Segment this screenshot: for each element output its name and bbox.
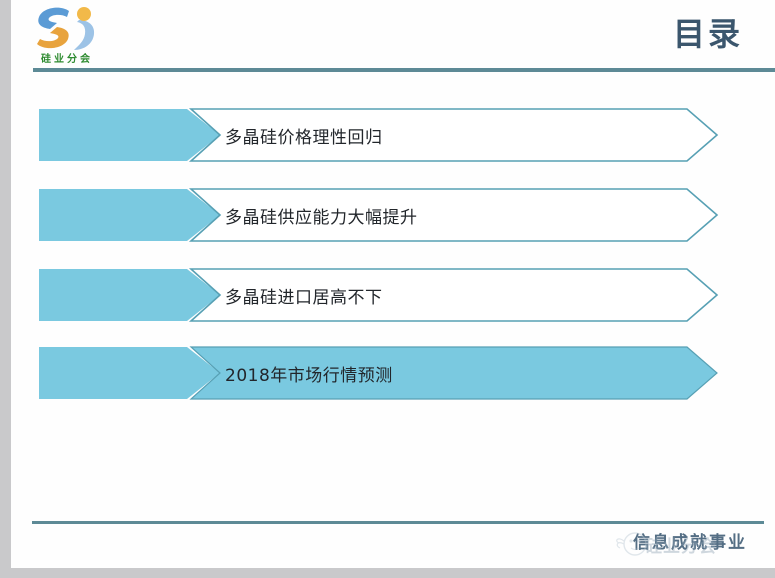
list-item[interactable]: 多晶硅供应能力大幅提升 xyxy=(39,188,719,242)
chevron-shape xyxy=(39,188,719,242)
contents-list: 多晶硅价格理性回归 多晶硅供应能力大幅提升 多晶硅进口居高不下 2018年市 xyxy=(11,0,775,568)
presentation-slide: 硅业分会 目录 多晶硅价格理性回归 多晶硅供应能力大幅提升 xyxy=(0,0,775,578)
chevron-shape xyxy=(39,268,719,322)
list-item-active[interactable]: 2018年市场行情预测 xyxy=(39,346,719,400)
footer-slogan-text: 信息成就事业 xyxy=(633,533,747,553)
list-item[interactable]: 多晶硅进口居高不下 xyxy=(39,268,719,322)
slide-frame-bottom xyxy=(0,568,775,578)
footer-divider xyxy=(32,521,764,524)
footer-slogan: 信息成就事业 xyxy=(487,528,747,562)
slide-frame-left xyxy=(0,0,11,578)
chevron-shape xyxy=(39,108,719,162)
chevron-shape-filled xyxy=(39,346,719,400)
list-item[interactable]: 多晶硅价格理性回归 xyxy=(39,108,719,162)
